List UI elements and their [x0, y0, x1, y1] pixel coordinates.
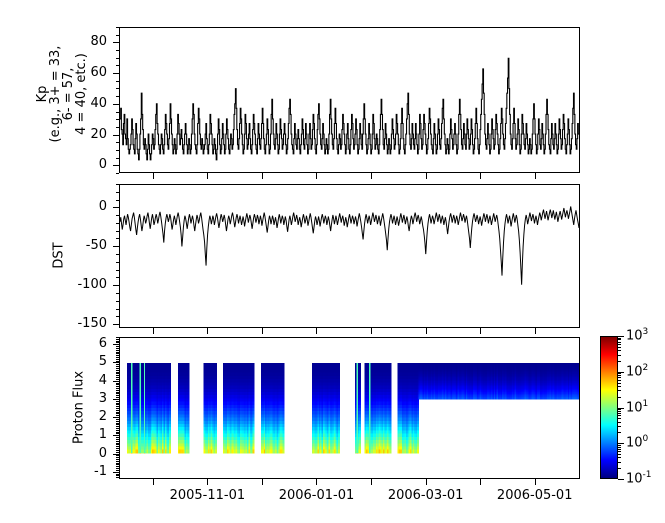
y-minor-tickmark — [116, 112, 119, 113]
y-minor-tickmark — [116, 439, 119, 440]
y-minor-tickmark — [116, 459, 119, 460]
y-minor-tickmark — [116, 238, 119, 239]
y-minor-tickmark — [116, 357, 119, 358]
proton-flux-axis-label: Proton Flux — [73, 353, 86, 463]
y-minor-tickmark — [116, 350, 119, 351]
y-minor-tickmark — [116, 364, 119, 365]
y-tick-label: 3 — [99, 391, 107, 406]
y-tick-label: 1 — [99, 427, 107, 442]
colorbar-tick-label: 103 — [626, 327, 648, 343]
y-minor-tickmark — [116, 406, 119, 407]
y-minor-tickmark — [116, 410, 119, 411]
y-minor-tickmark — [116, 383, 119, 384]
y-minor-tickmark — [116, 254, 119, 255]
colorbar-minor-tickmark — [618, 426, 621, 427]
y-tick-label: 40 — [90, 96, 107, 111]
x-tick-label: 2006-03-01 — [388, 488, 464, 503]
x-tickmark — [207, 328, 208, 334]
colorbar-minor-tickmark — [618, 347, 621, 348]
y-minor-tickmark — [116, 470, 119, 471]
x-tickmark — [480, 479, 481, 485]
y-minor-tickmark — [116, 362, 119, 363]
colorbar-minor-tickmark — [618, 373, 621, 374]
y-tick-label: 5 — [99, 354, 107, 369]
y-minor-tickmark — [116, 408, 119, 409]
colorbar-minor-tickmark — [618, 380, 621, 381]
y-minor-tickmark — [116, 452, 119, 453]
y-tick-label: 60 — [90, 65, 107, 80]
y-minor-tickmark — [116, 474, 119, 475]
y-minor-tickmark — [116, 412, 119, 413]
y-minor-tickmark — [116, 342, 119, 343]
y-minor-tickmark — [116, 457, 119, 458]
x-tickmark — [316, 328, 317, 334]
y-tick-label: 6 — [99, 336, 107, 351]
y-minor-tickmark — [116, 262, 119, 263]
colorbar-tickmark — [618, 479, 624, 480]
y-minor-tickmark — [116, 316, 119, 317]
y-minor-tickmark — [116, 348, 119, 349]
colorbar-minor-tickmark — [618, 447, 621, 448]
y-minor-tickmark — [116, 339, 119, 340]
y-minor-tickmark — [116, 184, 119, 185]
x-tickmark — [371, 328, 372, 334]
y-minor-tickmark — [116, 466, 119, 467]
colorbar-minor-tickmark — [618, 468, 621, 469]
colorbar-tick-label: 100 — [626, 434, 648, 450]
y-minor-tickmark — [116, 370, 119, 371]
y-minor-tickmark — [116, 368, 119, 369]
x-tickmark — [153, 328, 154, 334]
y-minor-tickmark — [116, 372, 119, 373]
x-tickmark — [480, 173, 481, 179]
y-minor-tickmark — [116, 455, 119, 456]
colorbar-minor-tickmark — [618, 462, 621, 463]
colorbar-minor-tickmark — [618, 451, 621, 452]
colorbar-minor-tickmark — [618, 375, 621, 376]
y-minor-tickmark — [116, 353, 119, 354]
y-minor-tickmark — [116, 404, 119, 405]
x-tickmark — [207, 479, 208, 485]
y-minor-tickmark — [116, 215, 119, 216]
x-tickmark — [262, 479, 263, 485]
y-minor-tickmark — [116, 192, 119, 193]
y-minor-tickmark — [116, 158, 119, 159]
colorbar-minor-tickmark — [618, 432, 621, 433]
y-minor-tickmark — [116, 352, 119, 353]
y-minor-tickmark — [116, 399, 119, 400]
y-minor-tickmark — [116, 475, 119, 476]
y-minor-tickmark — [116, 379, 119, 380]
colorbar-minor-tickmark — [618, 457, 621, 458]
y-tick-label: 2 — [99, 409, 107, 424]
y-tick-label: -150 — [77, 316, 107, 331]
y-tick-label: 0 — [99, 446, 107, 461]
y-minor-tickmark — [116, 246, 119, 247]
y-minor-tickmark — [116, 384, 119, 385]
colorbar-minor-tickmark — [618, 409, 621, 410]
y-minor-tickmark — [116, 421, 119, 422]
colorbar-minor-tickmark — [618, 361, 621, 362]
y-minor-tickmark — [116, 433, 119, 434]
y-minor-tickmark — [116, 417, 119, 418]
y-minor-tickmark — [116, 301, 119, 302]
y-minor-tickmark — [116, 366, 119, 367]
x-tickmark — [535, 479, 536, 485]
y-minor-tickmark — [116, 419, 119, 420]
kp-axis-label: Kp (e.g., 3+ = 33, 6- = 57, 4 = 40, etc.… — [36, 29, 88, 159]
y-minor-tickmark — [116, 386, 119, 387]
y-minor-tickmark — [116, 428, 119, 429]
x-tickmark — [535, 328, 536, 334]
y-minor-tickmark — [116, 344, 119, 345]
y-minor-tickmark — [116, 361, 119, 362]
colorbar — [600, 336, 618, 479]
y-minor-tickmark — [116, 150, 119, 151]
colorbar-tick-label: 101 — [626, 399, 648, 415]
y-minor-tickmark — [116, 435, 119, 436]
y-minor-tickmark — [116, 165, 119, 166]
y-minor-tickmark — [116, 96, 119, 97]
y-minor-tickmark — [116, 35, 119, 36]
colorbar-minor-tickmark — [618, 413, 621, 414]
y-minor-tickmark — [116, 441, 119, 442]
y-minor-tickmark — [116, 388, 119, 389]
colorbar-minor-tickmark — [618, 454, 621, 455]
y-minor-tickmark — [116, 127, 119, 128]
y-minor-tickmark — [116, 464, 119, 465]
y-minor-tickmark — [116, 207, 119, 208]
y-minor-tickmark — [116, 392, 119, 393]
y-minor-tickmark — [116, 393, 119, 394]
y-minor-tickmark — [116, 403, 119, 404]
y-minor-tickmark — [116, 437, 119, 438]
y-minor-tickmark — [116, 270, 119, 271]
y-minor-tickmark — [116, 450, 119, 451]
y-tick-label: 4 — [99, 373, 107, 388]
x-tickmark — [371, 479, 372, 485]
y-minor-tickmark — [116, 454, 119, 455]
y-minor-tickmark — [116, 390, 119, 391]
y-minor-tickmark — [116, 423, 119, 424]
y-minor-tickmark — [116, 373, 119, 374]
y-tick-label: -1 — [94, 464, 107, 479]
colorbar-minor-tickmark — [618, 415, 621, 416]
proton-flux-plot-panel — [119, 337, 580, 479]
y-minor-tickmark — [116, 430, 119, 431]
dst-plot-panel — [119, 184, 580, 328]
dst-data-line — [120, 185, 579, 327]
y-minor-tickmark — [116, 341, 119, 342]
colorbar-minor-tickmark — [618, 342, 621, 343]
x-tickmark — [316, 479, 317, 485]
y-minor-tickmark — [116, 135, 119, 136]
x-tick-label: 2006-01-01 — [279, 488, 355, 503]
colorbar-minor-tickmark — [618, 390, 621, 391]
y-minor-tickmark — [116, 42, 119, 43]
colorbar-minor-tickmark — [618, 449, 621, 450]
y-minor-tickmark — [116, 472, 119, 473]
y-minor-tickmark — [116, 359, 119, 360]
colorbar-minor-tickmark — [618, 445, 621, 446]
x-tickmark — [153, 173, 154, 179]
colorbar-minor-tickmark — [618, 411, 621, 412]
y-minor-tickmark — [116, 88, 119, 89]
x-tickmark — [426, 328, 427, 334]
y-minor-tickmark — [116, 375, 119, 376]
x-tickmark — [371, 173, 372, 179]
y-minor-tickmark — [116, 277, 119, 278]
colorbar-minor-tickmark — [618, 355, 621, 356]
x-tickmark — [535, 173, 536, 179]
y-minor-tickmark — [116, 27, 119, 28]
y-minor-tickmark — [116, 477, 119, 478]
y-minor-tickmark — [116, 468, 119, 469]
y-minor-tickmark — [116, 395, 119, 396]
colorbar-minor-tickmark — [618, 339, 621, 340]
y-minor-tickmark — [116, 432, 119, 433]
colorbar-minor-tickmark — [618, 397, 621, 398]
y-minor-tickmark — [116, 309, 119, 310]
x-tickmark — [262, 173, 263, 179]
y-minor-tickmark — [116, 293, 119, 294]
y-tick-label: 80 — [90, 34, 107, 49]
colorbar-minor-tickmark — [618, 377, 621, 378]
x-tickmark — [316, 173, 317, 179]
colorbar-minor-tickmark — [618, 383, 621, 384]
x-tickmark — [426, 173, 427, 179]
proton-flux-heatmap — [120, 338, 579, 478]
y-minor-tickmark — [116, 415, 119, 416]
x-tick-label: 2005-11-01 — [170, 488, 246, 503]
y-tick-label: 20 — [90, 127, 107, 142]
y-minor-tickmark — [116, 337, 119, 338]
y-minor-tickmark — [116, 65, 119, 66]
colorbar-minor-tickmark — [618, 350, 621, 351]
y-minor-tickmark — [116, 223, 119, 224]
y-tick-label: 0 — [99, 157, 107, 172]
y-minor-tickmark — [116, 444, 119, 445]
y-minor-tickmark — [116, 355, 119, 356]
x-tickmark — [153, 479, 154, 485]
x-tickmark — [426, 479, 427, 485]
colorbar-minor-tickmark — [618, 386, 621, 387]
kp-plot-panel — [119, 27, 580, 173]
x-tickmark — [207, 173, 208, 179]
y-minor-tickmark — [116, 142, 119, 143]
y-tick-label: 0 — [99, 199, 107, 214]
dst-axis-label: DST — [53, 226, 66, 286]
y-minor-tickmark — [116, 231, 119, 232]
y-minor-tickmark — [116, 463, 119, 464]
y-minor-tickmark — [116, 377, 119, 378]
y-minor-tickmark — [116, 81, 119, 82]
y-minor-tickmark — [116, 443, 119, 444]
kp-data-line — [120, 28, 579, 172]
colorbar-tick-label: 10-1 — [626, 470, 652, 486]
y-minor-tickmark — [116, 446, 119, 447]
x-tick-label: 2006-05-01 — [497, 488, 573, 503]
y-minor-tickmark — [116, 424, 119, 425]
x-tickmark — [480, 328, 481, 334]
y-minor-tickmark — [116, 448, 119, 449]
y-minor-tickmark — [116, 104, 119, 105]
colorbar-minor-tickmark — [618, 422, 621, 423]
y-minor-tickmark — [116, 346, 119, 347]
y-minor-tickmark — [116, 200, 119, 201]
colorbar-tick-label: 102 — [626, 363, 648, 379]
colorbar-minor-tickmark — [618, 418, 621, 419]
figure-canvas: Kp (e.g., 3+ = 33, 6- = 57, 4 = 40, etc.… — [0, 0, 665, 523]
y-minor-tickmark — [116, 119, 119, 120]
y-minor-tickmark — [116, 397, 119, 398]
y-minor-tickmark — [116, 50, 119, 51]
y-minor-tickmark — [116, 285, 119, 286]
y-tick-label: -50 — [86, 238, 107, 253]
y-minor-tickmark — [116, 73, 119, 74]
y-minor-tickmark — [116, 381, 119, 382]
x-tickmark — [262, 328, 263, 334]
colorbar-minor-tickmark — [618, 338, 621, 339]
y-minor-tickmark — [116, 413, 119, 414]
y-tick-label: -100 — [77, 277, 107, 292]
y-minor-tickmark — [116, 324, 119, 325]
y-minor-tickmark — [116, 426, 119, 427]
y-minor-tickmark — [116, 401, 119, 402]
y-minor-tickmark — [116, 58, 119, 59]
y-minor-tickmark — [116, 173, 119, 174]
kp-axis-label-line4: 4 = 40, etc.) — [75, 29, 88, 159]
y-minor-tickmark — [116, 461, 119, 462]
colorbar-minor-tickmark — [618, 344, 621, 345]
